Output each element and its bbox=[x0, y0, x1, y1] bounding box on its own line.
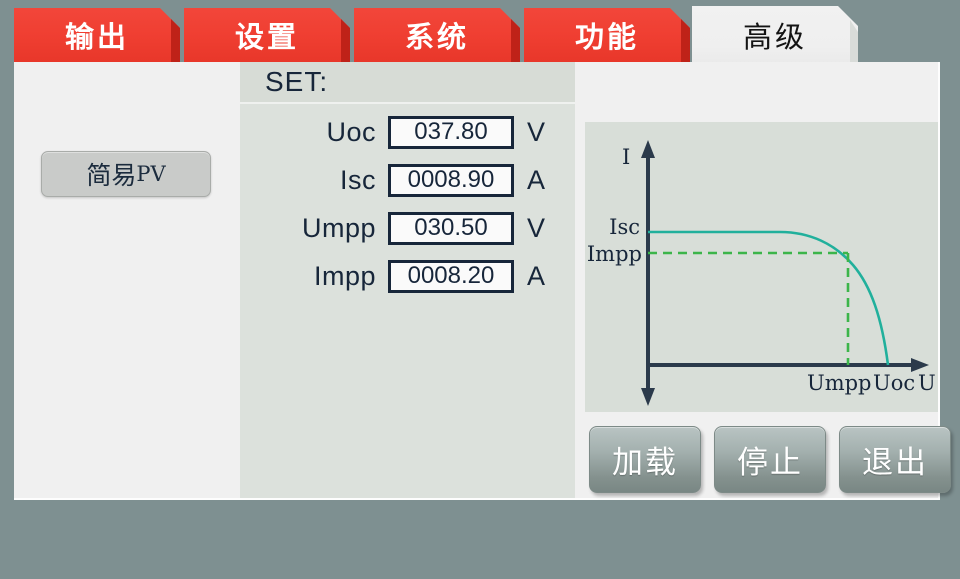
iv-curve-svg: I Isc Impp Umpp Uoc U bbox=[585, 122, 938, 412]
impp-unit: A bbox=[514, 261, 558, 292]
exit-button-label: 退出 bbox=[862, 437, 928, 482]
set-title: SET: bbox=[265, 66, 328, 98]
y-axis-arrow-down bbox=[641, 388, 655, 406]
uoc-label: Uoc bbox=[240, 117, 388, 148]
simple-pv-label-cjk: 简易 bbox=[86, 156, 136, 192]
device-screen: 输出 设置 系统 功能 高级 简易PV SET: bbox=[0, 0, 960, 579]
iv-curve-chart: I Isc Impp Umpp Uoc U bbox=[585, 122, 938, 412]
simple-pv-button[interactable]: 简易PV bbox=[41, 151, 211, 197]
exit-button[interactable]: 退出 bbox=[839, 426, 951, 493]
tab-edge-shadow bbox=[850, 20, 858, 64]
field-row-isc: Isc 0008.90 A bbox=[240, 158, 575, 202]
tab-edge-shadow bbox=[511, 8, 520, 62]
tab-edge-shadow bbox=[681, 8, 690, 62]
umpp-unit: V bbox=[514, 213, 558, 244]
tab-settings-label: 设置 bbox=[235, 14, 299, 56]
tick-label-umpp: Umpp bbox=[807, 371, 872, 395]
umpp-input[interactable]: 030.50 bbox=[388, 212, 514, 245]
tick-label-impp: Impp bbox=[587, 242, 642, 266]
axis-label-current: I bbox=[622, 145, 630, 169]
field-row-impp: Impp 0008.20 A bbox=[240, 254, 575, 298]
tab-function[interactable]: 功能 bbox=[524, 8, 690, 62]
isc-unit: A bbox=[514, 165, 558, 196]
stop-button-label: 停止 bbox=[737, 437, 803, 482]
isc-input[interactable]: 0008.90 bbox=[388, 164, 514, 197]
tab-output-label: 输出 bbox=[65, 14, 129, 56]
tab-system[interactable]: 系统 bbox=[354, 8, 520, 62]
tab-advanced-label: 高级 bbox=[743, 14, 807, 56]
simple-pv-label-latin: PV bbox=[136, 162, 165, 186]
x-axis-arrow-right bbox=[911, 358, 929, 372]
load-button[interactable]: 加载 bbox=[589, 426, 701, 493]
stop-button[interactable]: 停止 bbox=[714, 426, 826, 493]
set-panel: SET: Uoc 037.80 V Isc 0008.90 A Umpp 030… bbox=[240, 62, 575, 498]
impp-input[interactable]: 0008.20 bbox=[388, 260, 514, 293]
action-button-row: 加载 停止 退出 bbox=[575, 426, 940, 498]
tab-bar: 输出 设置 系统 功能 高级 bbox=[0, 0, 960, 62]
left-pane: 简易PV bbox=[14, 62, 240, 498]
tab-settings[interactable]: 设置 bbox=[184, 8, 350, 62]
umpp-label: Umpp bbox=[240, 213, 388, 244]
y-axis-arrow-up bbox=[641, 140, 655, 158]
tick-label-uoc: Uoc bbox=[873, 371, 915, 395]
content-panel: 简易PV SET: Uoc 037.80 V Isc 0008.90 A Ump… bbox=[14, 62, 940, 500]
axis-label-voltage: U bbox=[918, 371, 936, 395]
uoc-input[interactable]: 037.80 bbox=[388, 116, 514, 149]
impp-label: Impp bbox=[240, 261, 388, 292]
tab-edge-shadow bbox=[341, 8, 350, 62]
field-row-umpp: Umpp 030.50 V bbox=[240, 206, 575, 250]
tab-advanced[interactable]: 高级 bbox=[692, 6, 858, 64]
set-panel-header: SET: bbox=[240, 62, 575, 104]
isc-label: Isc bbox=[240, 165, 388, 196]
tab-output[interactable]: 输出 bbox=[14, 8, 180, 62]
tab-edge-shadow bbox=[171, 8, 180, 62]
uoc-unit: V bbox=[514, 117, 558, 148]
tick-label-isc: Isc bbox=[609, 215, 640, 239]
load-button-label: 加载 bbox=[612, 437, 678, 482]
tab-system-label: 系统 bbox=[405, 14, 469, 56]
tab-function-label: 功能 bbox=[575, 14, 639, 56]
field-row-uoc: Uoc 037.80 V bbox=[240, 110, 575, 154]
